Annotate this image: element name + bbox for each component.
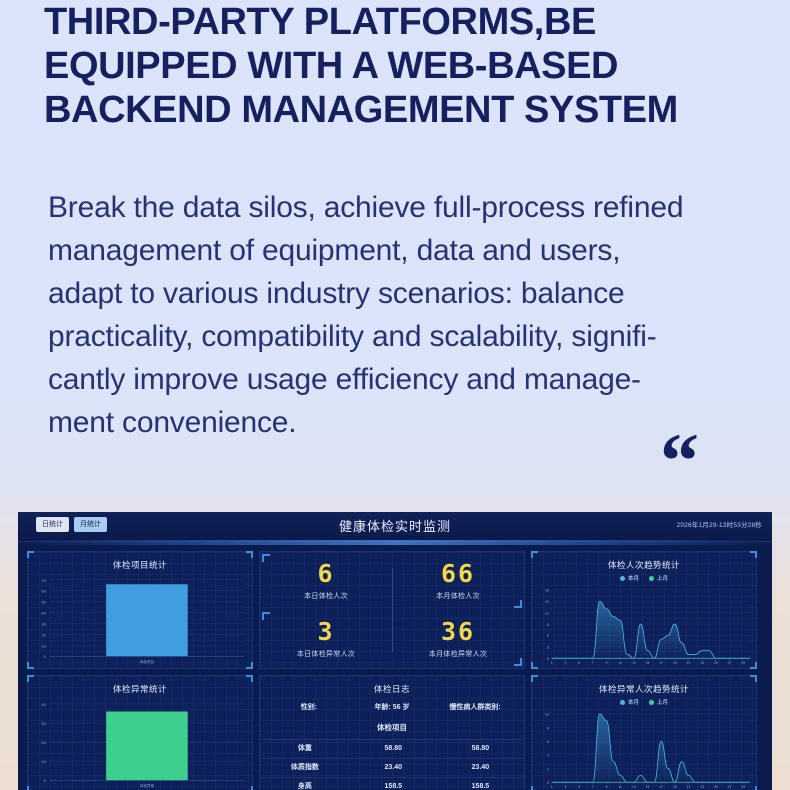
svg-text:17: 17 bbox=[659, 661, 663, 665]
svg-text:23: 23 bbox=[700, 661, 704, 665]
svg-text:21: 21 bbox=[687, 661, 691, 665]
dashboard-header: 日统计 月统计 健康体检实时监测 2026年1月29-13时53分28秒 bbox=[18, 512, 772, 542]
page-headline: THIRD-PARTY PLATFORMS,BE EQUIPPED WITH A… bbox=[44, 0, 760, 132]
log-title: 体检日志 bbox=[260, 683, 524, 695]
log-meta-age: 年龄: 56 岁 bbox=[350, 703, 434, 713]
svg-text:11: 11 bbox=[618, 661, 622, 665]
log-meta-row: 性别: 年龄: 56 岁 慢性病人群类别: bbox=[260, 703, 524, 713]
legend-item-last-month[interactable]: 上月 bbox=[649, 574, 668, 582]
body-line-5: cantly improve usage efficiency and mana… bbox=[48, 358, 760, 401]
legend-item-current-month[interactable]: 本月 bbox=[620, 574, 639, 582]
chart-abnormal-items: 010203040体检异常 bbox=[28, 698, 252, 790]
svg-text:10: 10 bbox=[41, 759, 46, 764]
svg-text:15: 15 bbox=[646, 661, 650, 665]
legend-dot-icon bbox=[620, 576, 625, 581]
svg-text:0: 0 bbox=[547, 657, 549, 661]
body-line-1: Break the data silos, achieve full-proce… bbox=[48, 186, 760, 229]
kpi-cell-month-exams: 66 本月体检人次 bbox=[392, 552, 524, 610]
log-meta-age-key: 年龄: bbox=[374, 704, 390, 711]
svg-text:19: 19 bbox=[673, 661, 677, 665]
kpi-grid: 6 本日体检人次 66 本月体检人次 3 本日体检异常人次 36 本月体检异常人… bbox=[260, 552, 524, 668]
corner-bracket-icon bbox=[27, 675, 34, 682]
svg-text:11: 11 bbox=[618, 785, 622, 789]
chart-exam-items: 010203040506070体检项目 bbox=[28, 574, 252, 668]
svg-text:0: 0 bbox=[44, 778, 47, 783]
panel-title-abnormal-trend: 体检异常人次趋势统计 bbox=[532, 676, 756, 695]
body-line-6: ment convenience. bbox=[48, 401, 760, 444]
svg-text:3: 3 bbox=[547, 646, 549, 650]
legend-dot-icon bbox=[649, 700, 654, 705]
svg-text:20: 20 bbox=[41, 740, 46, 745]
kpi-value-today-exams: 6 bbox=[317, 561, 334, 586]
svg-text:1: 1 bbox=[551, 785, 553, 789]
svg-text:10: 10 bbox=[545, 713, 549, 717]
svg-text:20: 20 bbox=[41, 632, 46, 637]
svg-text:30: 30 bbox=[41, 721, 46, 726]
kpi-label-today-exams: 本日体检人次 bbox=[304, 592, 348, 601]
svg-text:体检项目: 体检项目 bbox=[140, 659, 154, 664]
svg-text:12: 12 bbox=[545, 611, 549, 615]
dashboard-title: 健康体检实时监测 bbox=[18, 518, 772, 536]
svg-text:50: 50 bbox=[41, 600, 46, 605]
log-meta-gender-key: 性别: bbox=[301, 704, 317, 711]
svg-text:17: 17 bbox=[659, 785, 663, 789]
legend-dot-icon bbox=[620, 700, 625, 705]
kpi-cell-today-exams: 6 本日体检人次 bbox=[260, 552, 392, 610]
dashboard-body: 体检项目统计 010203040506070体检项目 6 本日体检人次 66 本… bbox=[18, 542, 772, 790]
legend-dot-icon bbox=[649, 576, 654, 581]
svg-text:2: 2 bbox=[547, 767, 549, 771]
panel-abnormal-items: 体检异常统计 010203040体检异常 bbox=[27, 675, 253, 790]
headline-line-3: BACKEND MANAGEMENT SYSTEM bbox=[44, 88, 760, 132]
svg-text:体检异常: 体检异常 bbox=[140, 783, 155, 788]
legend-abnormal-trend: 本月 上月 bbox=[532, 698, 756, 706]
panel-exam-log: 体检日志 性别: 年龄: 56 岁 慢性病人群类别: 体检项目 bbox=[259, 675, 525, 790]
log-meta-age-value: 56 岁 bbox=[393, 704, 410, 711]
log-row-name: 体重 bbox=[260, 740, 350, 759]
log-row-name: 体质指数 bbox=[260, 759, 350, 778]
chart-exam-trend: 03691215181357911131517192123252729 bbox=[532, 586, 756, 668]
svg-text:4: 4 bbox=[547, 754, 549, 758]
headline-line-1: THIRD-PARTY PLATFORMS,BE bbox=[44, 0, 760, 44]
tab-daily-stats[interactable]: 日统计 bbox=[36, 517, 69, 532]
log-meta-chronic-key: 慢性病人群类别: bbox=[449, 704, 500, 711]
log-row-value-1: 158.5 bbox=[350, 778, 437, 790]
log-row-value-1: 23.40 bbox=[350, 759, 437, 778]
svg-text:21: 21 bbox=[687, 785, 691, 789]
log-section-title: 体检项目 bbox=[260, 722, 524, 733]
panel-title-exam-trend: 体检人次趋势统计 bbox=[532, 552, 756, 571]
panel-title-abnormal-items: 体检异常统计 bbox=[28, 676, 252, 695]
corner-bracket-icon bbox=[531, 675, 538, 682]
panel-exam-trend: 体检人次趋势统计 本月 上月 0369121518135791113151719… bbox=[531, 551, 757, 669]
table-row: 体质指数 23.40 23.40 bbox=[260, 759, 524, 778]
svg-text:29: 29 bbox=[741, 785, 745, 789]
log-meta-gender: 性别: bbox=[268, 703, 350, 713]
svg-text:13: 13 bbox=[632, 661, 636, 665]
log-row-value-1: 58.80 bbox=[350, 740, 437, 759]
corner-bracket-icon bbox=[246, 675, 253, 682]
chart-abnormal-trend: 02468101357911131517192123252729 bbox=[532, 710, 756, 790]
svg-text:15: 15 bbox=[545, 600, 549, 604]
svg-text:7: 7 bbox=[592, 785, 594, 789]
svg-text:40: 40 bbox=[41, 702, 46, 707]
svg-text:9: 9 bbox=[606, 785, 608, 789]
log-row-value-2: 58.80 bbox=[437, 740, 524, 759]
log-row-value-2: 158.5 bbox=[437, 778, 524, 790]
svg-text:23: 23 bbox=[700, 785, 704, 789]
svg-text:19: 19 bbox=[673, 785, 677, 789]
panel-title-exam-items: 体检项目统计 bbox=[28, 552, 252, 571]
svg-text:30: 30 bbox=[41, 622, 46, 627]
svg-text:6: 6 bbox=[547, 634, 549, 638]
corner-bracket-icon bbox=[531, 551, 538, 558]
kpi-value-month-exams: 66 bbox=[441, 561, 475, 586]
legend-item-current-month[interactable]: 本月 bbox=[620, 698, 639, 706]
svg-text:13: 13 bbox=[632, 785, 636, 789]
legend-label-current-month: 本月 bbox=[628, 574, 639, 582]
svg-text:6: 6 bbox=[547, 740, 549, 744]
log-row-value-2: 23.40 bbox=[437, 759, 524, 778]
body-line-2: management of equipment, data and users, bbox=[48, 229, 760, 272]
kpi-divider bbox=[392, 568, 393, 652]
svg-text:0: 0 bbox=[547, 781, 549, 785]
dashboard-tab-group: 日统计 月统计 bbox=[36, 517, 107, 532]
dashboard-timestamp: 2026年1月29-13时53分28秒 bbox=[677, 521, 762, 531]
svg-text:40: 40 bbox=[41, 611, 46, 616]
tab-monthly-stats[interactable]: 月统计 bbox=[74, 517, 107, 532]
svg-text:15: 15 bbox=[646, 785, 650, 789]
svg-text:0: 0 bbox=[44, 654, 47, 659]
log-table: 体重 58.80 58.80 体质指数 23.40 23.40 身高 158.5 bbox=[260, 739, 524, 790]
svg-text:10: 10 bbox=[41, 643, 46, 648]
corner-bracket-icon bbox=[262, 554, 270, 562]
svg-text:25: 25 bbox=[714, 661, 718, 665]
svg-text:25: 25 bbox=[714, 785, 718, 789]
corner-bracket-icon bbox=[514, 658, 522, 666]
svg-text:3: 3 bbox=[565, 661, 567, 665]
kpi-label-month-exams: 本月体检人次 bbox=[436, 592, 480, 601]
corner-bracket-icon bbox=[262, 612, 270, 620]
corner-bracket-icon bbox=[750, 675, 757, 682]
table-row: 体重 58.80 58.80 bbox=[260, 740, 524, 759]
svg-text:5: 5 bbox=[578, 785, 580, 789]
panel-kpi-summary: 6 本日体检人次 66 本月体检人次 3 本日体检异常人次 36 本月体检异常人… bbox=[259, 551, 525, 669]
headline-line-2: EQUIPPED WITH A WEB-BASED bbox=[44, 44, 760, 88]
svg-text:3: 3 bbox=[565, 785, 567, 789]
svg-text:60: 60 bbox=[41, 589, 46, 594]
svg-text:1: 1 bbox=[551, 661, 553, 665]
exam-log: 体检日志 性别: 年龄: 56 岁 慢性病人群类别: 体检项目 bbox=[260, 676, 524, 790]
legend-label-last-month: 上月 bbox=[657, 698, 668, 706]
svg-text:9: 9 bbox=[547, 623, 549, 627]
svg-text:29: 29 bbox=[741, 661, 745, 665]
body-paragraph: Break the data silos, achieve full-proce… bbox=[48, 186, 760, 444]
kpi-label-month-abnormal: 本月体检异常人次 bbox=[429, 650, 487, 659]
legend-item-last-month[interactable]: 上月 bbox=[649, 698, 668, 706]
svg-text:70: 70 bbox=[41, 578, 46, 583]
corner-bracket-icon bbox=[246, 551, 253, 558]
table-row: 身高 158.5 158.5 bbox=[260, 778, 524, 790]
kpi-cell-today-abnormal: 3 本日体检异常人次 bbox=[260, 610, 392, 668]
legend-label-last-month: 上月 bbox=[657, 574, 668, 582]
kpi-cell-month-abnormal: 36 本月体检异常人次 bbox=[392, 610, 524, 668]
kpi-value-month-abnormal: 36 bbox=[441, 619, 475, 644]
corner-bracket-icon bbox=[514, 600, 522, 608]
svg-text:27: 27 bbox=[728, 661, 732, 665]
corner-bracket-icon bbox=[750, 551, 757, 558]
legend-exam-trend: 本月 上月 bbox=[532, 574, 756, 582]
log-meta-chronic: 慢性病人群类别: bbox=[434, 703, 516, 713]
kpi-label-today-abnormal: 本日体检异常人次 bbox=[297, 650, 355, 659]
svg-text:18: 18 bbox=[545, 589, 549, 593]
corner-bracket-icon bbox=[27, 551, 34, 558]
kpi-value-today-abnormal: 3 bbox=[317, 619, 334, 644]
svg-text:8: 8 bbox=[547, 726, 549, 730]
quote-mark-icon: “ bbox=[660, 432, 699, 490]
svg-text:27: 27 bbox=[728, 785, 732, 789]
svg-text:5: 5 bbox=[578, 661, 580, 665]
log-row-name: 身高 bbox=[260, 778, 350, 790]
legend-label-current-month: 本月 bbox=[628, 698, 639, 706]
dashboard-screenshot: 日统计 月统计 健康体检实时监测 2026年1月29-13时53分28秒 体检项… bbox=[18, 512, 772, 790]
svg-text:7: 7 bbox=[592, 661, 594, 665]
panel-exam-items: 体检项目统计 010203040506070体检项目 bbox=[27, 551, 253, 669]
body-line-3: adapt to various industry scenarios: bal… bbox=[48, 272, 760, 315]
svg-text:9: 9 bbox=[606, 661, 608, 665]
body-line-4: practicality, compatibility and scalabil… bbox=[48, 315, 760, 358]
panel-abnormal-trend: 体检异常人次趋势统计 本月 上月 02468101357911131517192… bbox=[531, 675, 757, 790]
